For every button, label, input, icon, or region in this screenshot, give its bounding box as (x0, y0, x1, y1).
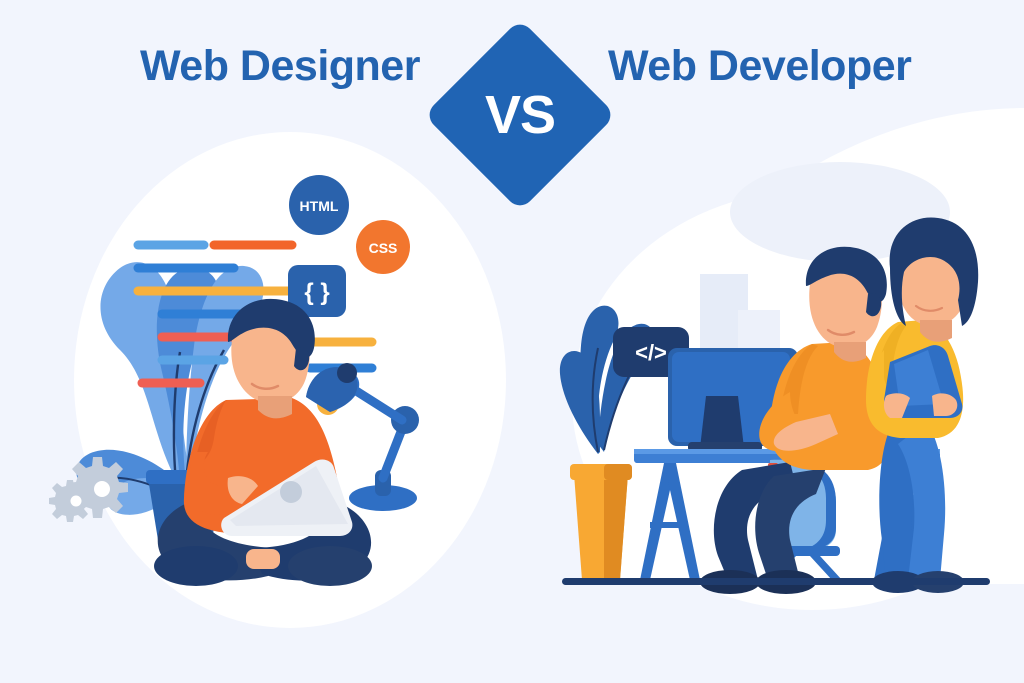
svg-text:{ }: { } (304, 279, 329, 306)
ground-line (562, 578, 990, 585)
svg-text:HTML: HTML (300, 198, 339, 214)
right-illustration-group: </> (560, 108, 1024, 610)
html-badge: HTML (289, 175, 349, 235)
page-title-right: Web Developer (608, 42, 911, 91)
infographic-canvas: { } HTML CSS (0, 0, 1024, 683)
svg-text:</>: </> (635, 340, 667, 365)
css-badge: CSS (356, 220, 410, 274)
page-title-left: Web Designer (140, 42, 420, 91)
left-illustration-group: { } HTML CSS (49, 132, 506, 628)
svg-text:CSS: CSS (369, 240, 398, 256)
vs-badge-label: VS (452, 47, 588, 183)
